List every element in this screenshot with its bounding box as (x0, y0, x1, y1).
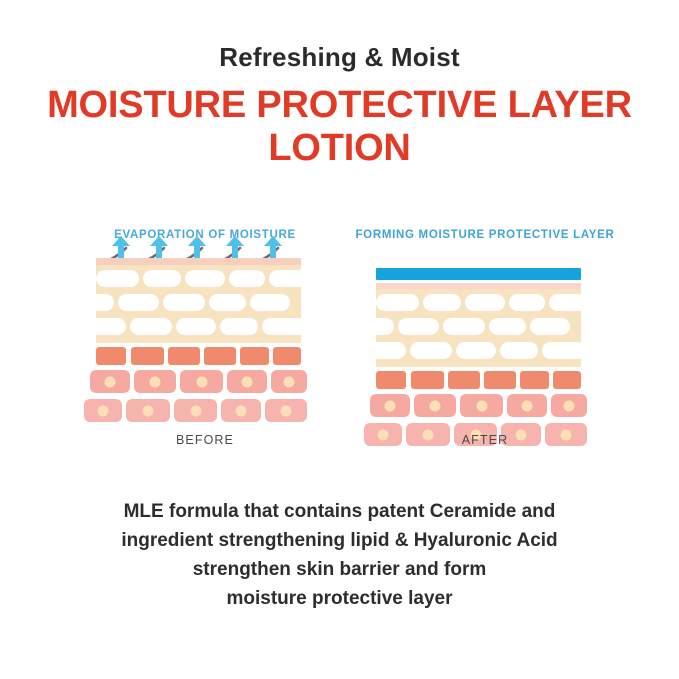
cell-nucleus (564, 400, 575, 411)
skin-cell (134, 370, 176, 393)
skin-cell (90, 370, 130, 393)
cell-nucleus (143, 405, 154, 416)
heading-block: Refreshing & Moist MOISTURE PROTECTIVE L… (0, 44, 679, 169)
skin-cell (507, 394, 547, 417)
panel-before: EVAPORATION OF MOISTURE (60, 228, 350, 468)
corneum-brick (376, 342, 406, 359)
corneum-brick (118, 294, 159, 311)
basal-layer-row (96, 399, 301, 424)
cell-nucleus (105, 376, 116, 387)
corneum-brick (130, 318, 172, 335)
granular-cell (168, 347, 200, 365)
skin-cell (174, 399, 217, 422)
skin-cell (271, 370, 307, 393)
spinous-layer-row (376, 394, 581, 419)
corneum-brick (530, 318, 570, 335)
skin-cross-section-before (96, 258, 301, 424)
corneum-brick (542, 342, 581, 359)
granular-cell (448, 371, 480, 389)
corneum-brick (250, 294, 290, 311)
granular-cell (376, 371, 406, 389)
corneum-brick (376, 294, 419, 311)
granular-cell (411, 371, 444, 389)
granular-cell (553, 371, 581, 389)
eyebrow-text: Refreshing & Moist (0, 44, 679, 70)
corneum-brick (509, 294, 545, 311)
skin-cell (180, 370, 223, 393)
cell-nucleus (242, 376, 253, 387)
headline-line-1: MOISTURE PROTECTIVE (47, 84, 497, 126)
stratum-corneum-layer (376, 289, 581, 367)
skin-cell (265, 399, 307, 422)
corneum-brick (229, 270, 265, 287)
spinous-layer-row (96, 370, 301, 395)
after-caption-line-1: FORMING MOISTURE (355, 229, 484, 241)
skin-cross-section-after (376, 268, 581, 448)
headline: MOISTURE PROTECTIVE LAYER LOTION (0, 84, 679, 169)
skin-cell (414, 394, 456, 417)
after-label: AFTER (340, 433, 630, 447)
description-line-3: strengthen skin barrier and form (60, 556, 619, 585)
panel-after: FORMING MOISTURE PROTECTIVE LAYER (340, 228, 630, 468)
corneum-brick (465, 294, 505, 311)
granular-cell (520, 371, 549, 389)
after-caption: FORMING MOISTURE PROTECTIVE LAYER (340, 228, 630, 243)
corneum-brick (269, 270, 301, 287)
before-label: BEFORE (60, 433, 350, 447)
granular-layer-row (96, 347, 301, 366)
corneum-brick (185, 270, 225, 287)
corneum-brick (96, 318, 126, 335)
granular-cell (131, 347, 164, 365)
description-line-1: MLE formula that contains patent Ceramid… (60, 498, 619, 527)
corneum-brick (398, 318, 439, 335)
corneum-brick (456, 342, 496, 359)
product-infographic: Refreshing & Moist MOISTURE PROTECTIVE L… (0, 0, 679, 679)
skin-cell (370, 394, 410, 417)
cell-nucleus (98, 405, 109, 416)
corneum-brick (410, 342, 452, 359)
cell-nucleus (281, 405, 292, 416)
granular-layer-row (376, 371, 581, 390)
stratum-corneum-layer (96, 265, 301, 343)
granular-cell (204, 347, 236, 365)
cell-nucleus (476, 400, 487, 411)
granular-cell (240, 347, 269, 365)
corneum-brick (220, 318, 258, 335)
corneum-brick (489, 318, 526, 335)
granular-cell (96, 347, 126, 365)
corneum-brick (96, 270, 139, 287)
cell-nucleus (150, 376, 161, 387)
skin-cell (551, 394, 587, 417)
cell-nucleus (385, 400, 396, 411)
skin-cell (460, 394, 503, 417)
moisture-protective-layer (376, 268, 581, 280)
after-caption-line-2: PROTECTIVE LAYER (489, 229, 615, 241)
corneum-brick (143, 270, 181, 287)
cell-nucleus (190, 405, 201, 416)
skin-cell (227, 370, 267, 393)
skin-diagram-comparison: EVAPORATION OF MOISTURE (0, 228, 679, 468)
granular-cell (273, 347, 301, 365)
corneum-brick (500, 342, 538, 359)
before-caption: EVAPORATION OF MOISTURE (60, 228, 350, 243)
corneum-brick (96, 294, 114, 311)
cell-nucleus (196, 376, 207, 387)
corneum-brick (423, 294, 461, 311)
corneum-brick (209, 294, 246, 311)
skin-cell (126, 399, 170, 422)
skin-cell (221, 399, 261, 422)
description-text: MLE formula that contains patent Ceramid… (0, 498, 679, 614)
corneum-brick (262, 318, 301, 335)
cell-nucleus (430, 400, 441, 411)
cell-nucleus (284, 376, 295, 387)
skin-cell (84, 399, 122, 422)
corneum-brick (549, 294, 581, 311)
description-line-4: moisture protective layer (60, 585, 619, 614)
cell-nucleus (236, 405, 247, 416)
corneum-brick (176, 318, 216, 335)
skin-surface-layer (96, 258, 301, 265)
cell-nucleus (522, 400, 533, 411)
corneum-brick (443, 318, 485, 335)
description-line-2: ingredient strengthening lipid & Hyaluro… (60, 527, 619, 556)
before-caption-line-1: EVAPORATION OF MOISTURE (114, 229, 296, 241)
corneum-brick (163, 294, 205, 311)
granular-cell (484, 371, 516, 389)
corneum-brick (376, 318, 394, 335)
